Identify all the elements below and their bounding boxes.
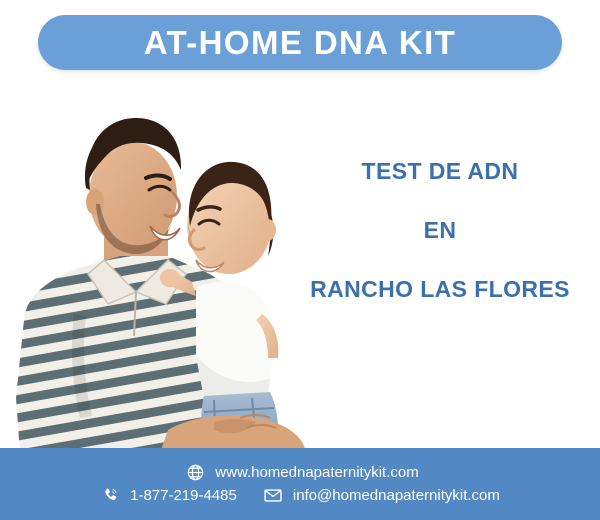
headline-line-1: TEST DE ADN <box>290 160 590 183</box>
footer-bar: www.homednapaternitykit.com 1-877-219-44… <box>0 448 600 520</box>
phone-icon <box>100 486 120 506</box>
email-address: info@homednapaternitykit.com <box>293 488 500 503</box>
phone-number: 1-877-219-4485 <box>130 488 237 503</box>
website-link[interactable]: www.homednapaternitykit.com <box>185 463 418 483</box>
promo-banner: AT-HOME DNA KIT <box>0 0 600 520</box>
footer-website-row: www.homednapaternitykit.com <box>181 463 418 483</box>
globe-icon <box>185 463 205 483</box>
headline-block: TEST DE ADN EN RANCHO LAS FLORES <box>290 160 590 301</box>
envelope-icon <box>263 486 283 506</box>
family-photo-illustration <box>0 78 330 453</box>
headline-line-3: RANCHO LAS FLORES <box>290 278 590 301</box>
header-banner: AT-HOME DNA KIT <box>38 15 562 70</box>
page-title: AT-HOME DNA KIT <box>144 26 456 59</box>
footer-contact-row: 1-877-219-4485 info@homednapaternitykit.… <box>100 486 500 506</box>
email-link[interactable]: info@homednapaternitykit.com <box>263 486 500 506</box>
family-photo <box>0 78 330 453</box>
website-url: www.homednapaternitykit.com <box>215 465 418 480</box>
headline-line-2: EN <box>290 219 590 242</box>
phone-link[interactable]: 1-877-219-4485 <box>100 486 237 506</box>
